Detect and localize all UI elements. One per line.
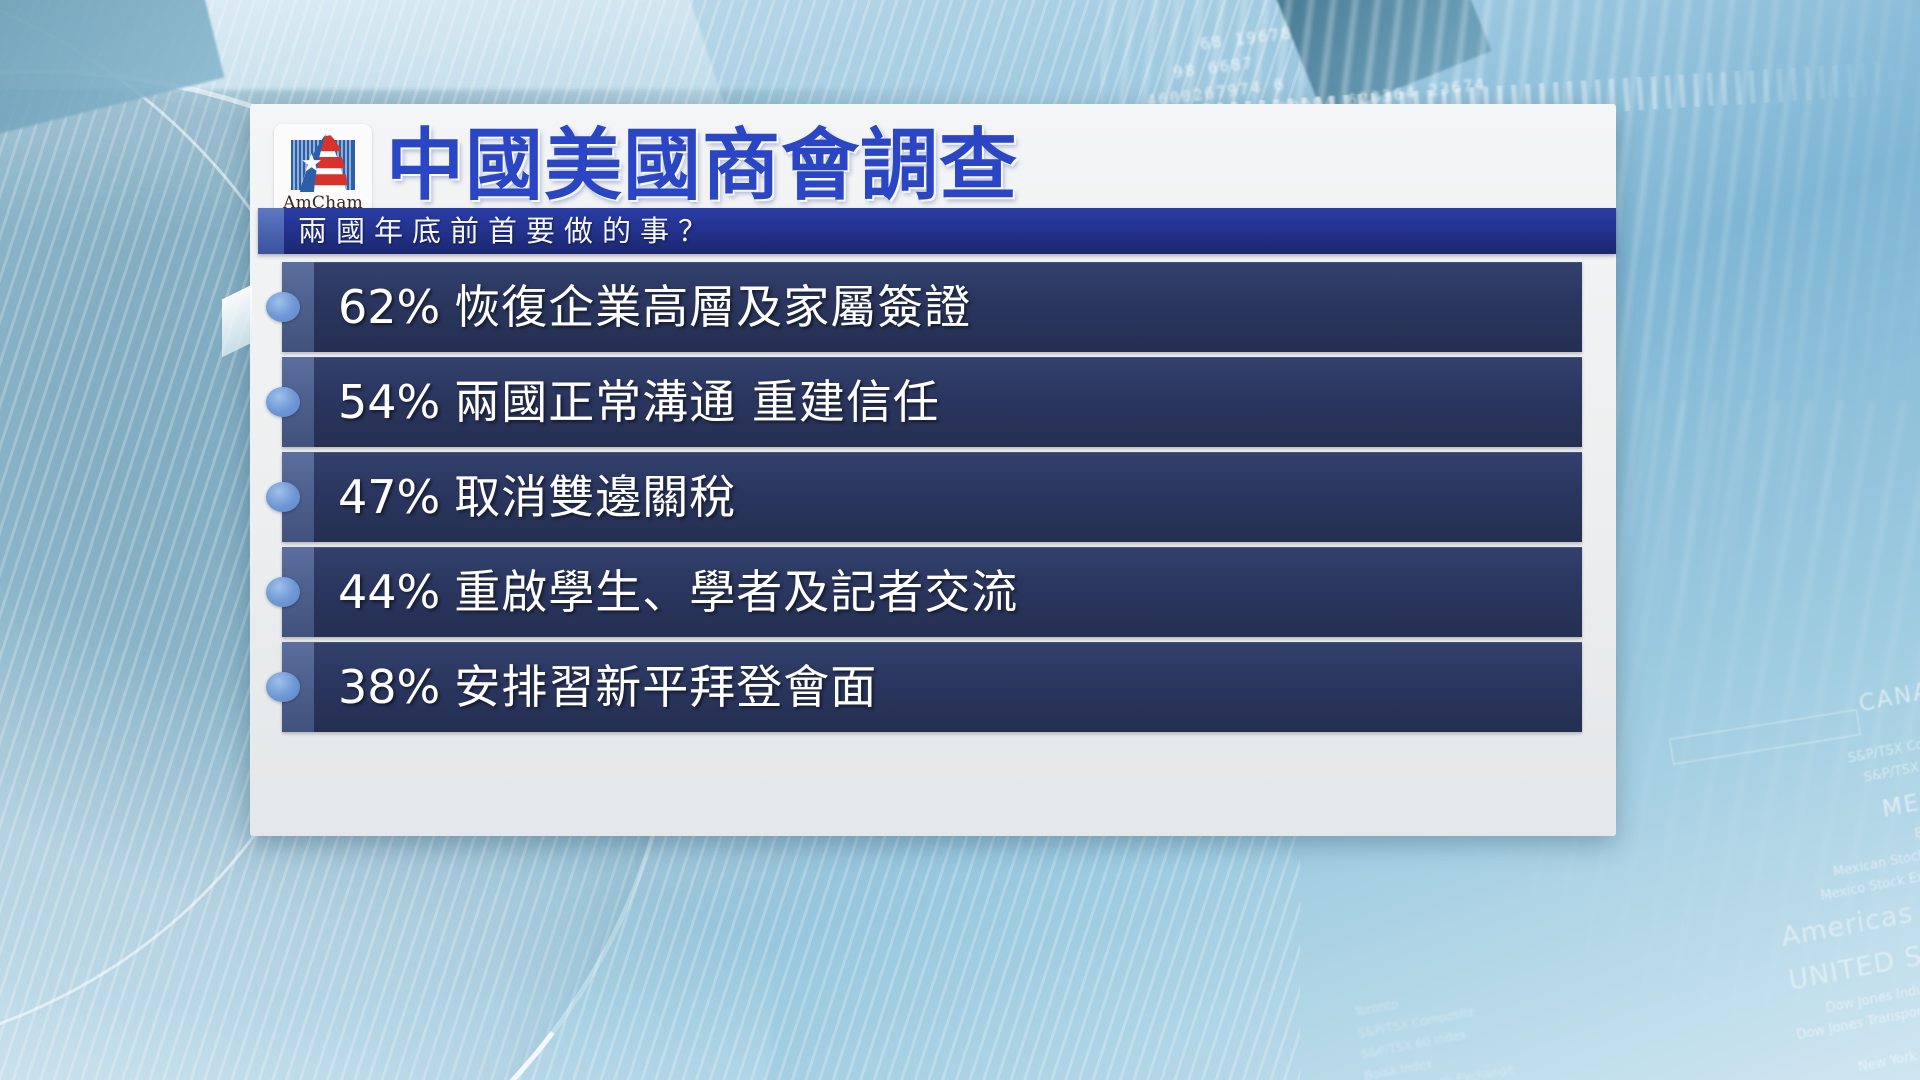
item-label: 兩國正常溝通 重建信任 [454, 375, 940, 429]
bullet-icon [266, 577, 300, 607]
percent-value: 47% [338, 470, 440, 524]
subtitle-text: 兩國年底前首要做的事？ [298, 208, 716, 254]
list-item-text: 44%重啟學生、學者及記者交流 [338, 547, 1018, 637]
list-item-text: 54%兩國正常溝通 重建信任 [338, 357, 940, 447]
item-label: 恢復企業高層及家屬簽證 [454, 280, 971, 334]
list-item: 47%取消雙邊關稅 [282, 452, 1582, 542]
survey-graphic-card: AmCham 中國美國商會調查 兩國年底前首要做的事？ 62%恢復企業高層及家屬… [250, 104, 1616, 836]
percent-value: 62% [338, 280, 440, 334]
item-label: 安排習新平拜登會面 [454, 660, 877, 714]
bullet-icon [266, 387, 300, 417]
survey-results-list: 62%恢復企業高層及家屬簽證 54%兩國正常溝通 重建信任 47%取消雙邊關稅 … [282, 262, 1582, 737]
list-item-text: 47%取消雙邊關稅 [338, 452, 736, 542]
bullet-icon [266, 482, 300, 512]
percent-value: 38% [338, 660, 440, 714]
list-item: 62%恢復企業高層及家屬簽證 [282, 262, 1582, 352]
subtitle-bar: 兩國年底前首要做的事？ [258, 208, 1616, 254]
bullet-icon [266, 292, 300, 322]
page-title: 中國美國商會調查 [386, 112, 1018, 220]
list-item-text: 62%恢復企業高層及家屬簽證 [338, 262, 971, 352]
list-item: 54%兩國正常溝通 重建信任 [282, 357, 1582, 447]
percent-value: 44% [338, 565, 440, 619]
item-label: 取消雙邊關稅 [454, 470, 736, 524]
item-label: 重啟學生、學者及記者交流 [454, 565, 1018, 619]
percent-value: 54% [338, 375, 440, 429]
bullet-icon [266, 672, 300, 702]
list-item-text: 38%安排習新平拜登會面 [338, 642, 877, 732]
list-item: 38%安排習新平拜登會面 [282, 642, 1582, 732]
list-item: 44%重啟學生、學者及記者交流 [282, 547, 1582, 637]
